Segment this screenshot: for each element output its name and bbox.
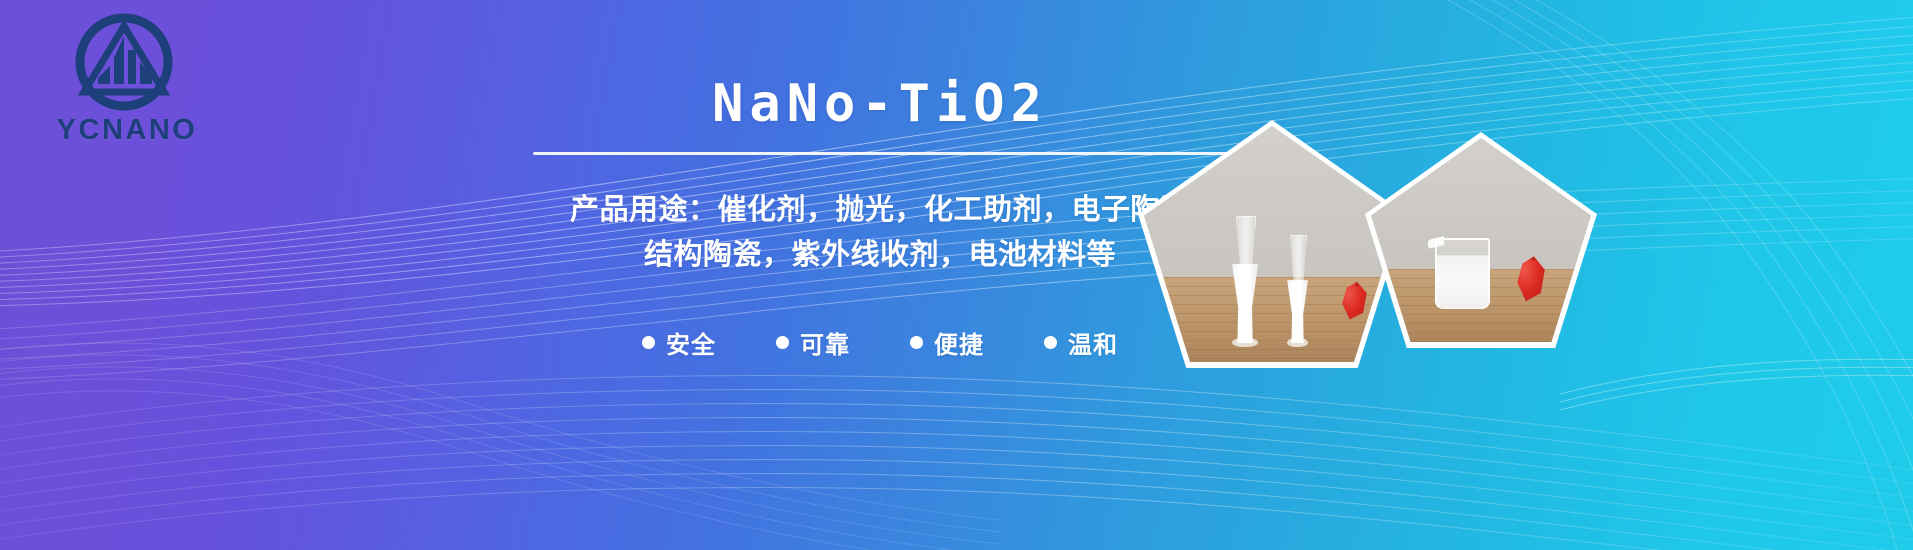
white-vase-short: [1282, 235, 1313, 344]
feature-label: 便捷: [934, 325, 984, 360]
feature-label: 安全: [666, 325, 716, 360]
brand-wordmark: YCNANO: [47, 114, 207, 147]
usage-line-2: 结构陶瓷，紫外线收剂，电池材料等: [570, 232, 1190, 277]
feature-label: 可靠: [800, 325, 850, 360]
usage-line-1: 产品用途：催化剂，抛光，化工助剂，电子陶瓷，: [570, 187, 1190, 232]
product-photo-beaker: [1365, 132, 1597, 348]
bullet-dot-icon: [1044, 336, 1057, 349]
beaker-with-white-liquid: [1435, 238, 1490, 309]
feature-item-convenient: 便捷: [910, 325, 984, 360]
feature-item-safe: 安全: [642, 325, 716, 360]
bullet-dot-icon: [642, 336, 655, 349]
feature-list: 安全 可靠 便捷 温和: [642, 325, 1118, 360]
product-title: NaNo-TiO2: [712, 78, 1048, 130]
feature-item-mild: 温和: [1044, 325, 1118, 360]
white-vase-tall: [1226, 216, 1264, 343]
feature-label: 温和: [1068, 325, 1118, 360]
brand-logo[interactable]: YCNANO: [47, 10, 207, 155]
bullet-dot-icon: [910, 336, 923, 349]
title-divider: [533, 152, 1227, 155]
circle-triangle-mountain-icon: [64, 10, 184, 118]
product-usage-text: 产品用途：催化剂，抛光，化工助剂，电子陶瓷， 结构陶瓷，紫外线收剂，电池材料等: [570, 187, 1190, 277]
feature-item-reliable: 可靠: [776, 325, 850, 360]
promo-banner: YCNANO NaNo-TiO2 产品用途：催化剂，抛光，化工助剂，电子陶瓷， …: [0, 0, 1913, 550]
bullet-dot-icon: [776, 336, 789, 349]
